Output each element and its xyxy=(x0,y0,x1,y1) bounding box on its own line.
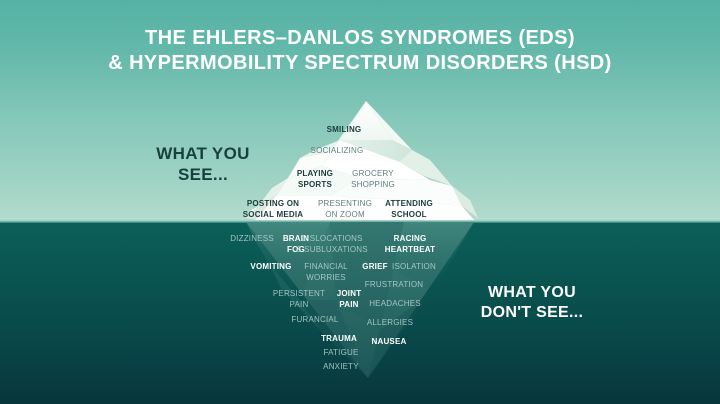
symptom-label-line: ANXIETY xyxy=(281,361,401,372)
symptom-label-line: HEADACHES xyxy=(335,298,455,309)
symptom-label-line: ISOLATION xyxy=(354,261,474,272)
symptom-label-racing-heartbeat: RACINGHEARTBEAT xyxy=(350,233,470,255)
symptom-label-nausea: NAUSEA xyxy=(329,336,449,347)
symptom-label-anxiety: ANXIETY xyxy=(281,361,401,372)
symptom-label-line: ALLERGIES xyxy=(330,317,450,328)
symptom-label-line: HEARTBEAT xyxy=(350,244,470,255)
symptom-label-headaches: HEADACHES xyxy=(335,298,455,309)
symptom-label-allergies: ALLERGIES xyxy=(330,317,450,328)
symptom-label-fatigue: FATIGUE xyxy=(281,347,401,358)
below-water-label-group: DIZZINESSBRAINFOGDISLOCATIONS& SUBLUXATI… xyxy=(0,0,720,404)
symptom-label-line: NAUSEA xyxy=(329,336,449,347)
infographic-canvas: THE EHLERS–DANLOS SYNDROMES (EDS) & HYPE… xyxy=(0,0,720,404)
symptom-label-line: RACING xyxy=(350,233,470,244)
symptom-label-line: FATIGUE xyxy=(281,347,401,358)
symptom-label-isolation: ISOLATION xyxy=(354,261,474,272)
